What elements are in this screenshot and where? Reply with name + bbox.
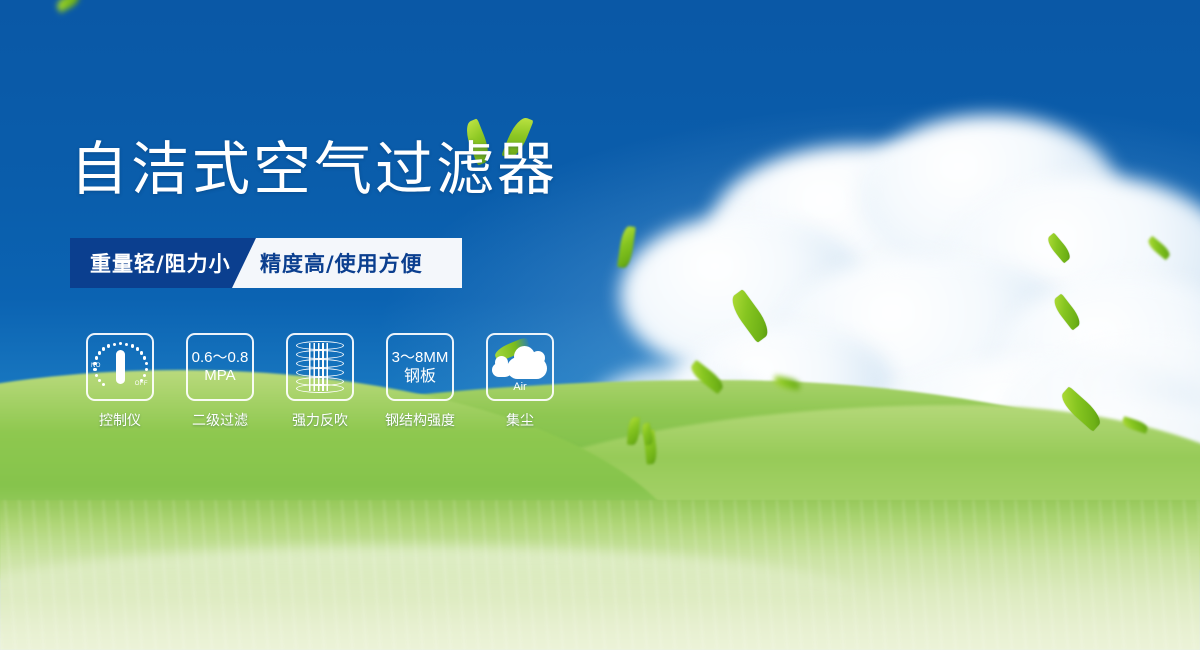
feature-icon-box [286, 333, 354, 401]
feature-item[interactable]: NO OFF 控制仪 [70, 333, 170, 430]
feature-icon-box: Air [486, 333, 554, 401]
feature-icon-box: NO OFF [86, 333, 154, 401]
gauge-label-no: NO [91, 363, 101, 369]
feature-label: 集尘 [506, 410, 534, 430]
tagline-left: 重量轻/阻力小 [70, 238, 256, 288]
feature-list: NO OFF 控制仪 0.6～0.8 MPA 二级过滤 [70, 333, 570, 430]
feature-label: 控制仪 [99, 410, 141, 430]
feature-label: 二级过滤 [192, 410, 248, 430]
cloud-air-icon: Air [492, 344, 548, 390]
feature-item[interactable]: 0.6～0.8 MPA 二级过滤 [170, 333, 270, 430]
pressure-unit-text: MPA [204, 367, 235, 385]
gauge-label-off: OFF [135, 381, 148, 387]
feature-icon-box: 0.6～0.8 MPA [186, 333, 254, 401]
feature-item[interactable]: 强力反吹 [270, 333, 370, 430]
coil-icon [296, 341, 344, 393]
feature-icon-box: 3～8MM 钢板 [386, 333, 454, 401]
air-label: Air [492, 381, 548, 393]
feature-label: 钢结构强度 [385, 410, 455, 430]
page-title: 自洁式空气过滤器 [70, 140, 558, 198]
tagline-bar: 重量轻/阻力小 精度高/使用方便 [70, 238, 462, 288]
feature-item[interactable]: Air 集尘 [470, 333, 570, 430]
pressure-value-text: 0.6～0.8 [192, 349, 249, 367]
feature-label: 强力反吹 [292, 410, 348, 430]
steel-plate-text: 钢板 [404, 367, 436, 385]
feature-item[interactable]: 3～8MM 钢板 钢结构强度 [370, 333, 470, 430]
product-banner: 自洁式空气过滤器 重量轻/阻力小 精度高/使用方便 [0, 0, 1200, 650]
tagline-right: 精度高/使用方便 [232, 238, 462, 288]
gauge-icon: NO OFF [92, 341, 148, 393]
steel-thickness-text: 3～8MM [392, 349, 449, 367]
